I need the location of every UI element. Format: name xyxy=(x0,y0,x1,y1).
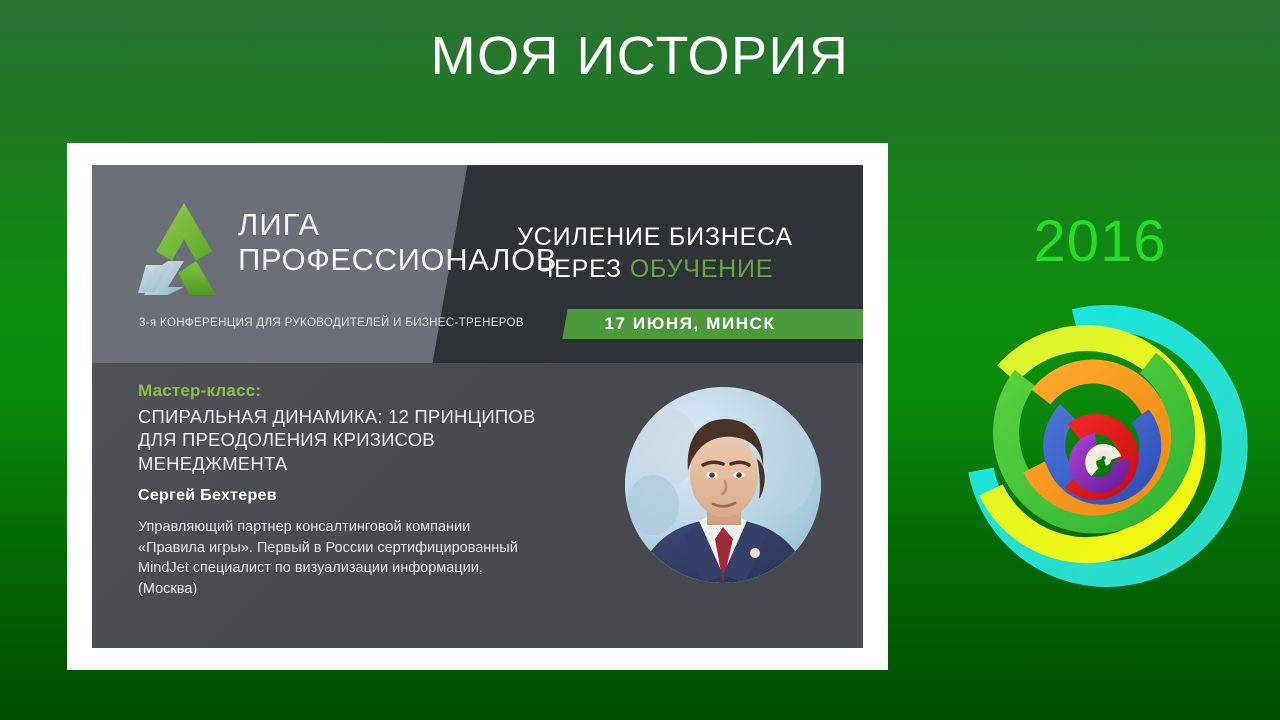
speaker-bio-line-1: Управляющий партнер консалтинговой компа… xyxy=(138,517,608,538)
masterclass-title-line-1: СПИРАЛЬНАЯ ДИНАМИКА: 12 ПРИНЦИПОВ xyxy=(138,405,578,428)
speaker-bio-line-3: MindJet специалист по визуализации инфор… xyxy=(138,558,608,579)
date-location-text: 17 ИЮНЯ, МИНСК xyxy=(543,309,863,339)
masterclass-title: СПИРАЛЬНАЯ ДИНАМИКА: 12 ПРИНЦИПОВ ДЛЯ ПР… xyxy=(138,405,578,475)
poster-headline: УСИЛЕНИЕ БИЗНЕСА ЧЕРЕЗ ОБУЧЕНИЕ xyxy=(460,221,850,285)
year-label: 2016 xyxy=(940,208,1260,275)
speaker-bio-line-4: (Москва) xyxy=(138,579,608,600)
speaker-portrait xyxy=(625,387,821,583)
date-location-banner: 17 ИЮНЯ, МИНСК xyxy=(543,309,863,339)
conference-strapline: 3-я КОНФЕРЕНЦИЯ ДЛЯ РУКОВОДИТЕЛЕЙ И БИЗН… xyxy=(139,317,524,329)
poster-frame: ЛИГА ПРОФЕССИОНАЛОВ 3-я КОНФЕРЕНЦИЯ ДЛЯ … xyxy=(67,143,888,670)
conference-poster: ЛИГА ПРОФЕССИОНАЛОВ 3-я КОНФЕРЕНЦИЯ ДЛЯ … xyxy=(92,165,863,648)
spiral-dynamics-icon xyxy=(955,300,1255,600)
headline-line-2-accent: ОБУЧЕНИЕ xyxy=(630,255,774,283)
masterclass-label: Мастер-класс: xyxy=(138,381,261,401)
slide-canvas: МОЯ ИСТОРИЯ xyxy=(0,0,1280,720)
masterclass-title-line-3: МЕНЕДЖМЕНТА xyxy=(138,452,578,475)
league-triangle-logo-icon xyxy=(138,199,230,299)
speaker-name: Сергей Бехтерев xyxy=(138,487,277,505)
headline-line-2-prefix: ЧЕРЕЗ xyxy=(537,255,630,283)
headline-line-1: УСИЛЕНИЕ БИЗНЕСА xyxy=(460,221,850,253)
speaker-bio-line-2: «Правила игры». Первый в России сертифиц… xyxy=(138,538,608,559)
masterclass-title-line-2: ДЛЯ ПРЕОДОЛЕНИЯ КРИЗИСОВ xyxy=(138,428,578,451)
headline-line-2: ЧЕРЕЗ ОБУЧЕНИЕ xyxy=(460,253,850,285)
page-title: МОЯ ИСТОРИЯ xyxy=(0,28,1280,85)
speaker-bio: Управляющий партнер консалтинговой компа… xyxy=(138,517,608,599)
